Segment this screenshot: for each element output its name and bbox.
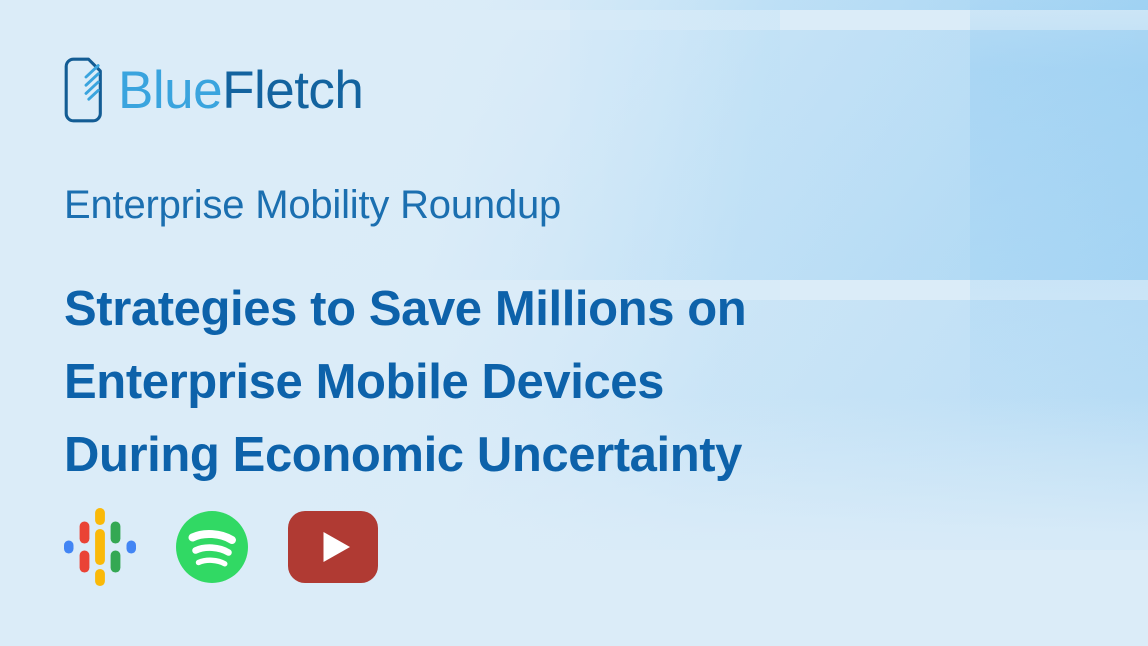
page-title-line-1: Strategies to Save Millions on bbox=[64, 273, 864, 346]
background-vertical-panel bbox=[970, 0, 1148, 460]
youtube-icon[interactable] bbox=[288, 511, 378, 583]
bluefletch-wordmark: BlueFletch bbox=[118, 64, 363, 117]
spotify-icon[interactable] bbox=[176, 511, 248, 583]
bluefletch-device-mark-icon bbox=[64, 57, 104, 123]
google-podcasts-icon[interactable] bbox=[64, 508, 136, 586]
background-vertical-panel bbox=[570, 0, 780, 300]
series-eyebrow: Enterprise Mobility Roundup bbox=[64, 182, 561, 228]
page-title: Strategies to Save Millions on Enterpris… bbox=[64, 273, 864, 492]
background-diagonal-band bbox=[335, 0, 1148, 10]
wordmark-fletch: Fletch bbox=[222, 61, 363, 120]
page-title-line-3: During Economic Uncertainty bbox=[64, 419, 864, 492]
page-title-line-2: Enterprise Mobile Devices bbox=[64, 346, 864, 419]
wordmark-blue: Blue bbox=[118, 61, 222, 120]
podcast-title-slide: BlueFletch Enterprise Mobility Roundup S… bbox=[0, 0, 1148, 646]
podcast-platform-links bbox=[64, 508, 378, 586]
bluefletch-logo[interactable]: BlueFletch bbox=[64, 57, 363, 123]
